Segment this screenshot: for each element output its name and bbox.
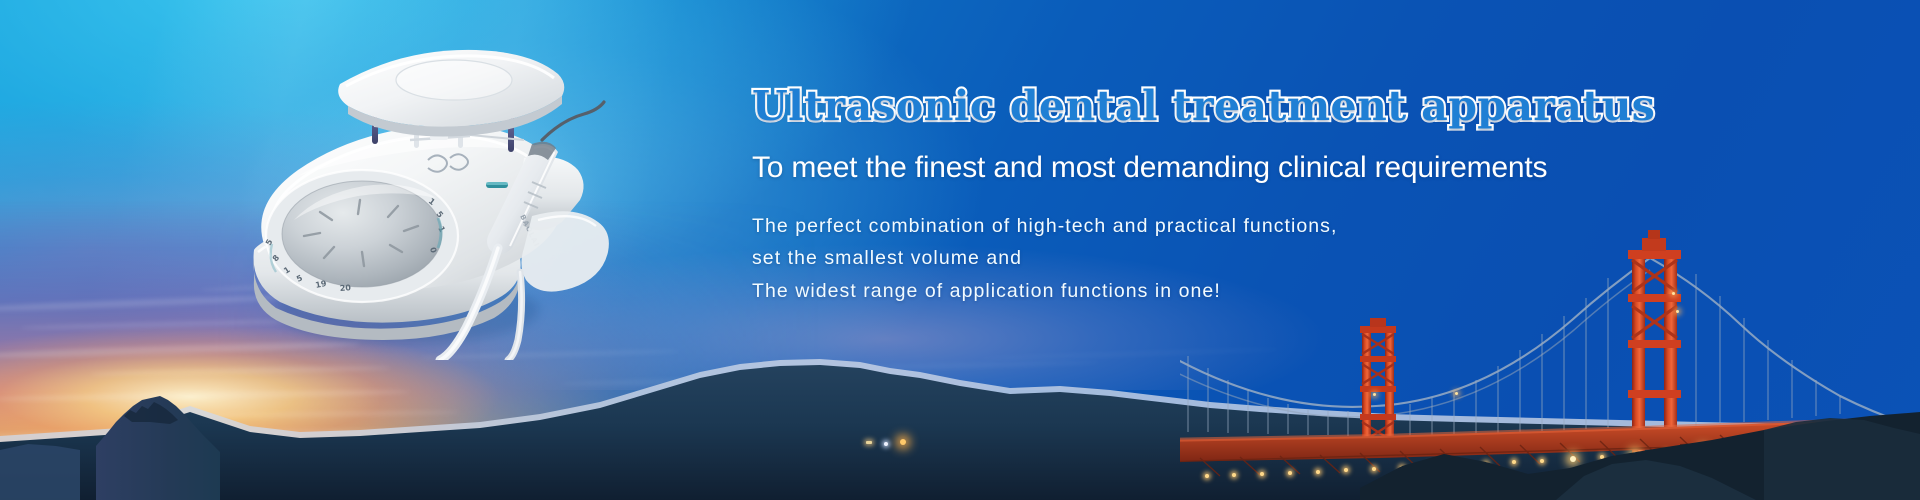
description-line-2: set the smallest volume and xyxy=(752,242,1852,275)
svg-text:20: 20 xyxy=(340,283,352,293)
banner-copy: Ultrasonic dental treatment apparatus To… xyxy=(752,86,1852,307)
scaler-control-dial: 0 1 5 1 5 8 1 5 19 20 xyxy=(264,170,458,302)
page-subtitle: To meet the finest and most demanding cl… xyxy=(752,151,1852,184)
banner-description: The perfect combination of high-tech and… xyxy=(752,210,1852,308)
description-line-3: The widest range of application function… xyxy=(752,275,1852,308)
scaler-rear-block xyxy=(521,211,608,291)
hero-banner: 0 1 5 1 5 8 1 5 19 20 xyxy=(0,0,1920,500)
description-line-1: The perfect combination of high-tech and… xyxy=(752,210,1852,243)
scaler-lid-canopy xyxy=(338,50,564,152)
ultrasonic-dental-scaler-image: 0 1 5 1 5 8 1 5 19 20 xyxy=(232,40,612,360)
foreground-rocks xyxy=(1360,370,1920,500)
page-title: Ultrasonic dental treatment apparatus xyxy=(752,86,1852,128)
